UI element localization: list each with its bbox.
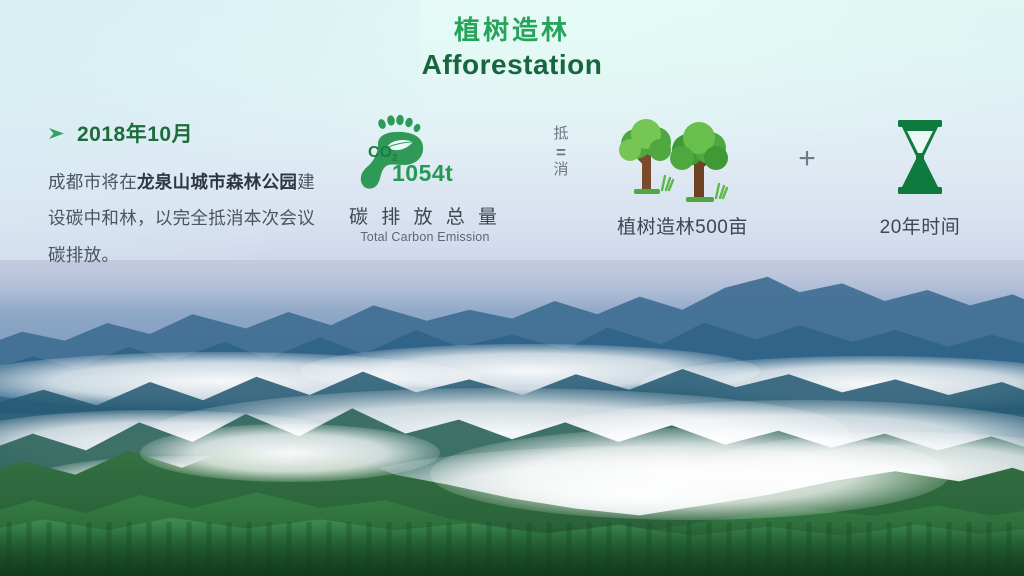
left-text-column: 2018年10月 成都市将在龙泉山城市森林公园建设碳中和林，以完全抵消本次会议碳… <box>48 118 316 273</box>
time-caption-cn: 20年时间 <box>830 212 1010 239</box>
date-label: 2018年10月 <box>77 118 193 148</box>
carbon-caption-cn: 碳 排 放 总 量 <box>330 202 520 229</box>
metric-carbon-emission: CO2 1054t 碳 排 放 总 量 Total Carbon Emissio… <box>330 112 520 244</box>
description-paragraph: 成都市将在龙泉山城市森林公园建设碳中和林，以完全抵消本次会议碳排放。 <box>48 164 316 273</box>
foreground-shadow <box>0 524 1024 576</box>
arrow-head-icon <box>48 127 65 140</box>
carbon-caption-en: Total Carbon Emission <box>330 230 520 244</box>
metric-time-span: 20年时间 <box>830 112 1010 239</box>
paragraph-seg-2: 龙泉山城市 <box>137 172 226 192</box>
date-row: 2018年10月 <box>48 118 316 148</box>
offset-char-bottom: 消 <box>553 162 568 179</box>
carbon-captions: 碳 排 放 总 量 Total Carbon Emission <box>330 202 520 244</box>
co2-text: CO <box>368 144 392 161</box>
paragraph-seg-1: 成都市将在 <box>48 172 137 192</box>
carbon-value: 1054t <box>392 160 453 187</box>
page-title-en: Afforestation <box>0 48 1024 82</box>
hourglass-icon <box>830 112 1010 204</box>
title-block: 植树造林 Afforestation <box>0 16 1024 81</box>
two-trees-icon <box>580 112 785 204</box>
paragraph-seg-3: 森林公园 <box>226 172 297 192</box>
metrics-row: CO2 1054t 碳 排 放 总 量 Total Carbon Emissio… <box>330 112 990 262</box>
metric-afforestation-area: 植树造林500亩 <box>580 112 785 239</box>
equals-symbol: = <box>556 143 566 162</box>
mountain-photo <box>0 260 1024 576</box>
time-caption: 20年时间 <box>830 212 1010 239</box>
trees-caption: 植树造林500亩 <box>580 212 785 239</box>
offset-char-top: 抵 <box>553 126 568 143</box>
page-title-cn: 植树造林 <box>0 16 1024 46</box>
slide: 植树造林 Afforestation 2018年10月 成都市将在龙泉山城市森林… <box>0 0 1024 576</box>
trees-caption-cn: 植树造林500亩 <box>580 212 785 239</box>
carbon-footprint-icon: CO2 1054t <box>330 112 520 198</box>
